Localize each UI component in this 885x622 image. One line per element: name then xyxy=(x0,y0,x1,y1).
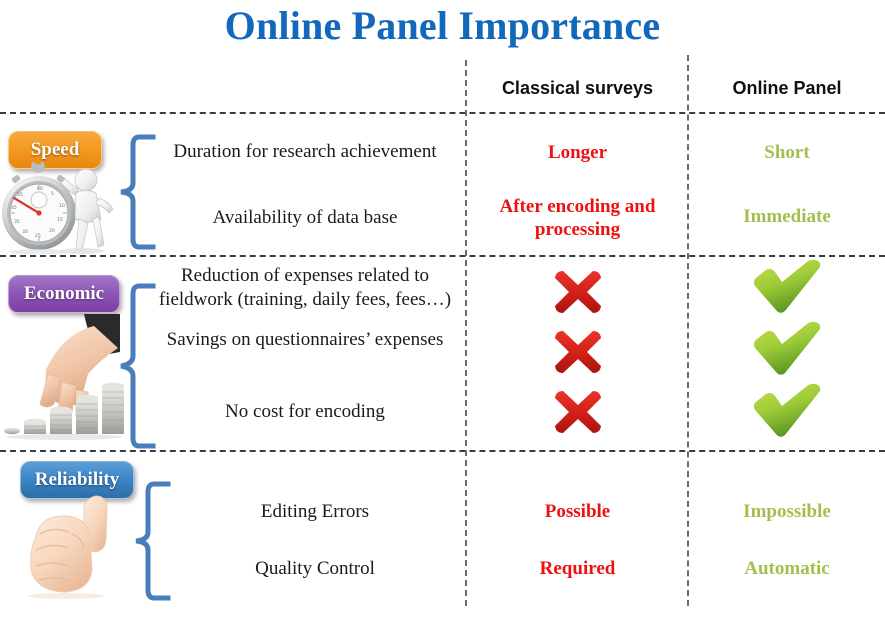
description-reliability-2: Quality Control xyxy=(165,557,465,581)
thumbs-up-image xyxy=(10,492,132,602)
svg-text:35: 35 xyxy=(14,219,20,225)
value-classical-speed-1: Longer xyxy=(467,142,688,165)
value-online-reliability-2: Automatic xyxy=(689,558,885,581)
value-online-speed-1: Short xyxy=(689,142,885,165)
stopwatch-figure-svg: 605 1015 2025 3035 4555 xyxy=(2,162,120,254)
separator-economic-reliability xyxy=(0,450,885,452)
svg-text:15: 15 xyxy=(57,217,63,223)
stopwatch-figure-image: 605 1015 2025 3035 4555 xyxy=(2,162,120,254)
svg-text:20: 20 xyxy=(49,228,55,234)
column-header-online-panel: Online Panel xyxy=(689,78,885,99)
svg-text:5: 5 xyxy=(51,191,54,197)
description-reliability-1: Editing Errors xyxy=(165,500,465,524)
description-economic-3: No cost for encoding xyxy=(150,400,460,424)
cross-icon xyxy=(550,386,606,438)
description-speed-1: Duration for research achievement xyxy=(150,140,460,164)
thumbs-up-svg xyxy=(10,492,132,602)
cross-mark-group xyxy=(467,266,688,438)
check-icon xyxy=(751,320,823,378)
check-icon xyxy=(751,258,823,316)
value-online-speed-2: Immediate xyxy=(689,206,885,229)
value-online-reliability-1: Impossible xyxy=(689,501,885,524)
separator-under-headers xyxy=(0,112,885,114)
svg-text:45: 45 xyxy=(11,205,17,211)
svg-text:25: 25 xyxy=(35,233,41,239)
description-economic-1: Reduction of expenses related to fieldwo… xyxy=(150,264,460,312)
value-classical-reliability-2: Required xyxy=(467,558,688,581)
curly-brace-icon-reliability xyxy=(130,480,172,602)
row-badge-economic[interactable]: Economic xyxy=(8,275,120,313)
value-classical-speed-2: After encoding and processing xyxy=(467,196,688,242)
description-speed-2: Availability of data base xyxy=(150,206,460,230)
value-classical-reliability-1: Possible xyxy=(467,501,688,524)
check-mark-group xyxy=(689,258,885,440)
description-economic-2: Savings on questionnaires’ expenses xyxy=(150,328,460,352)
check-icon xyxy=(751,382,823,440)
separator-speed-economic xyxy=(0,255,885,257)
column-header-classical-surveys: Classical surveys xyxy=(467,78,688,99)
cross-icon xyxy=(550,266,606,318)
curly-brace-svg xyxy=(130,480,172,602)
cross-icon xyxy=(550,326,606,378)
svg-text:60: 60 xyxy=(37,186,43,192)
svg-text:10: 10 xyxy=(59,203,65,209)
hand-coins-stairs-image xyxy=(2,312,126,440)
slide-canvas: Online Panel Importance Classical survey… xyxy=(0,0,885,622)
svg-text:55: 55 xyxy=(17,192,23,198)
svg-text:30: 30 xyxy=(22,229,28,235)
page-title: Online Panel Importance xyxy=(0,2,885,49)
hand-coins-svg xyxy=(2,312,126,440)
